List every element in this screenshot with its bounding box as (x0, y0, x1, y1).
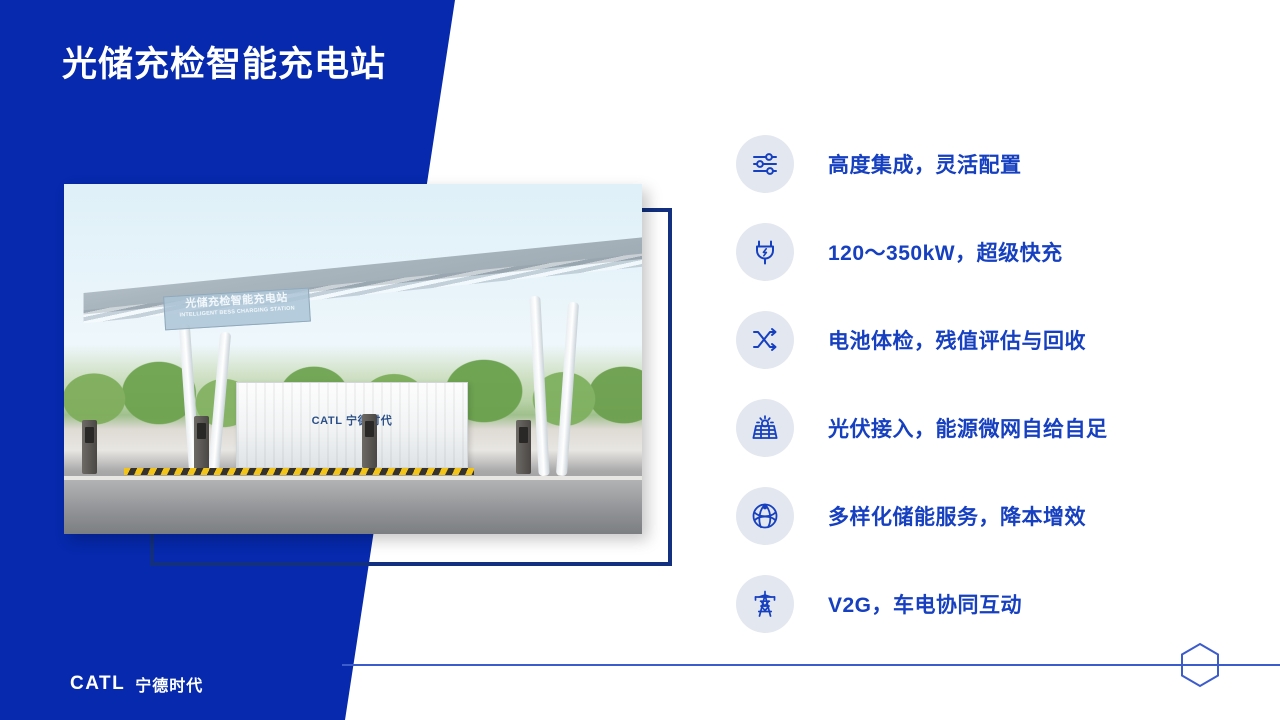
feature-label: 多样化储能服务，降本增效 (828, 501, 1086, 531)
feature-label: V2G，车电协同互动 (828, 589, 1022, 619)
feature-label: 电池体检，残值评估与回收 (828, 325, 1086, 355)
slide-root: 光储充检智能充电站 CATL 宁德时代 光储充检智能充电站 INTELLIGEN… (0, 0, 1280, 720)
charging-post (362, 414, 377, 468)
solar-canopy-roof (72, 226, 642, 334)
hexagon-decoration (1176, 641, 1224, 689)
photo-scene: CATL 宁德时代 光储充检智能充电站 INTELLIGENT BESS CHA… (64, 184, 642, 534)
feature-item-3[interactable]: 光伏接入，能源微网自给自足 (736, 384, 1256, 472)
feature-label: 120～350kW，超级快充 (828, 237, 1063, 267)
container-logo-text: CATL 宁德时代 (312, 412, 393, 428)
battery-container: CATL 宁德时代 (236, 382, 468, 468)
brand-logo-chinese: 宁德时代 (135, 672, 203, 696)
feature-item-0[interactable]: 高度集成，灵活配置 (736, 120, 1256, 208)
power-tower-icon (736, 575, 794, 633)
charging-post (194, 416, 209, 470)
plug-icon (736, 223, 794, 281)
brand-logo-latin: CATL (70, 673, 125, 695)
feature-label: 光伏接入，能源微网自给自足 (828, 413, 1108, 443)
sliders-icon (736, 135, 794, 193)
shuffle-icon (736, 311, 794, 369)
page-title: 光储充检智能充电站 (62, 44, 386, 86)
energy-globe-icon (736, 487, 794, 545)
feature-item-4[interactable]: 多样化储能服务，降本增效 (736, 472, 1256, 560)
station-photo: CATL 宁德时代 光储充检智能充电站 INTELLIGENT BESS CHA… (64, 184, 642, 534)
hazard-curb (124, 468, 474, 475)
feature-item-5[interactable]: V2G，车电协同互动 (736, 560, 1256, 648)
feature-list: 高度集成，灵活配置 120～350kW，超级快充 (736, 120, 1256, 648)
charging-post (516, 420, 531, 474)
feature-item-1[interactable]: 120～350kW，超级快充 (736, 208, 1256, 296)
solar-panel-icon (736, 399, 794, 457)
footer-divider-line (342, 664, 1280, 666)
charging-post (82, 420, 97, 474)
road-surface (64, 480, 642, 534)
brand-logo: CATL 宁德时代 (70, 672, 203, 696)
feature-item-2[interactable]: 电池体检，残值评估与回收 (736, 296, 1256, 384)
feature-label: 高度集成，灵活配置 (828, 149, 1022, 179)
